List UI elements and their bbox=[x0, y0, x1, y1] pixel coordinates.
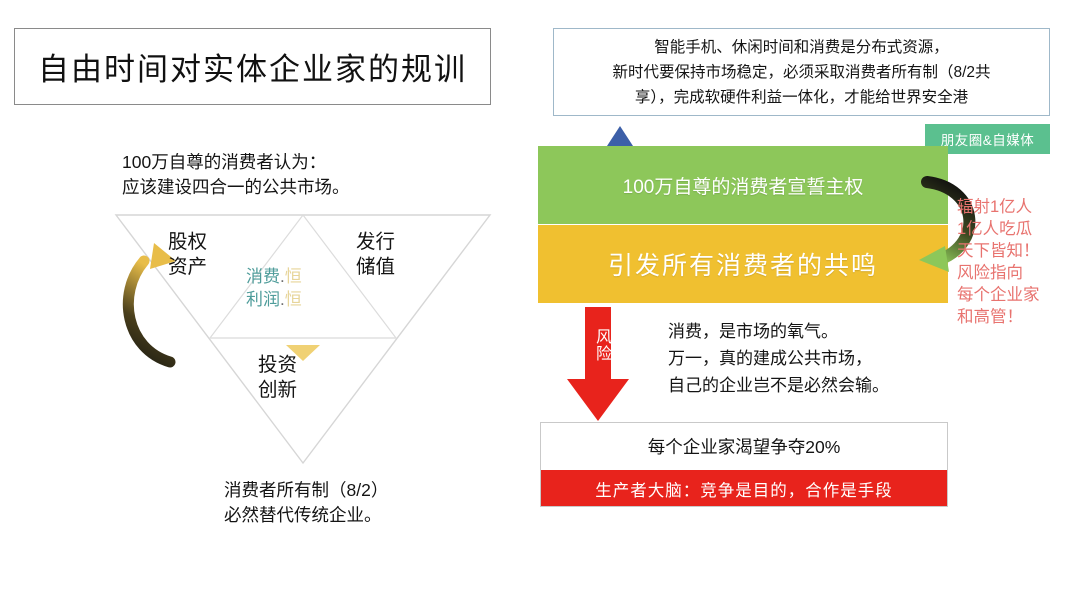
center-profit-label: 利润 bbox=[246, 290, 280, 309]
four-in-one-market-diagram: 股权 资产 发行 储值 投资 创新 消费.恒 利润.恒 bbox=[108, 205, 498, 470]
band-resonance: 引发所有消费者的共鸣 bbox=[538, 225, 948, 303]
diagram-label-equity: 股权 资产 bbox=[168, 230, 207, 280]
page-title: 自由时间对实体企业家的规训 bbox=[38, 44, 467, 89]
center-constant-2: 恒 bbox=[285, 290, 302, 309]
left-caption-text: 100万自尊的消费者认为： 应该建设四合一的公共市场。 bbox=[122, 150, 452, 200]
left-footer-text: 消费者所有制（8/2） 必然替代传统企业。 bbox=[224, 478, 544, 528]
center-constant-1: 恒 bbox=[285, 267, 302, 286]
center-line-2: 利润.恒 bbox=[246, 288, 302, 311]
risk-amplification-note: 辐射1亿人 1亿人吃瓜 天下皆知！ 风险指向 每个企业家 和高管！ bbox=[957, 196, 1077, 328]
entrepreneur-share-text: 每个企业家渴望争夺20% bbox=[541, 423, 947, 470]
risk-down-arrow-icon bbox=[563, 307, 633, 425]
blue-triangle-marker-icon bbox=[607, 126, 633, 146]
thesis-text: 智能手机、休闲时间和消费是分布式资源， 新时代要保持市场稳定，必须采取消费者所有… bbox=[604, 35, 998, 110]
producer-brain-banner: 生产者大脑：竞争是目的，合作是手段 bbox=[541, 470, 947, 507]
diagram-center-labels: 消费.恒 利润.恒 bbox=[246, 265, 302, 311]
risk-arrow-label: 风险 bbox=[589, 328, 611, 362]
producer-mindset-box: 每个企业家渴望争夺20% 生产者大脑：竞争是目的，合作是手段 bbox=[540, 422, 948, 507]
band-declaration: 100万自尊的消费者宣誓主权 bbox=[538, 146, 948, 224]
slide-canvas: 自由时间对实体企业家的规训 100万自尊的消费者认为： 应该建设四合一的公共市场… bbox=[0, 0, 1080, 594]
oxygen-commentary-text: 消费，是市场的氧气。 万一，真的建成公共市场， 自己的企业岂不是必然会输。 bbox=[668, 318, 988, 399]
slide-title-box: 自由时间对实体企业家的规训 bbox=[14, 28, 491, 105]
center-line-1: 消费.恒 bbox=[246, 265, 302, 288]
diagram-label-issuance: 发行 储值 bbox=[356, 230, 395, 280]
diagram-label-investment: 投资 创新 bbox=[258, 353, 297, 403]
thesis-box: 智能手机、休闲时间和消费是分布式资源， 新时代要保持市场稳定，必须采取消费者所有… bbox=[553, 28, 1050, 116]
diagram-shapes bbox=[108, 205, 498, 470]
center-consumption-label: 消费 bbox=[246, 267, 280, 286]
